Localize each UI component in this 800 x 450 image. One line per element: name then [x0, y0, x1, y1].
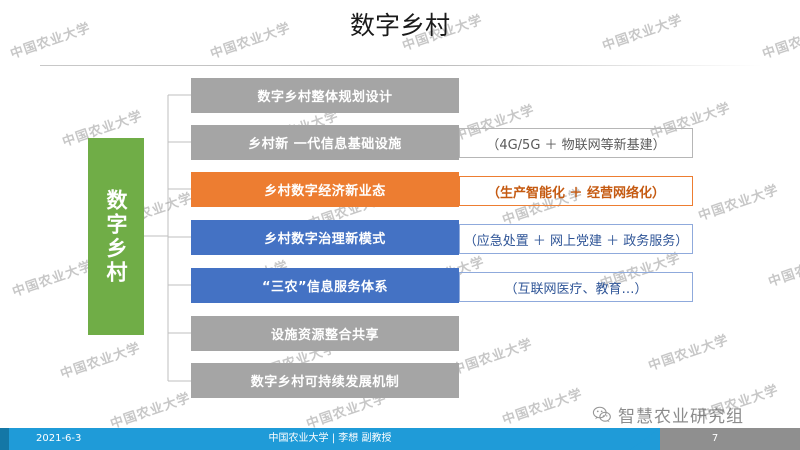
node-label: 乡村新 一代信息基础设施 — [248, 133, 402, 152]
wechat-icon — [592, 405, 612, 425]
slide-canvas: 数字乡村 数字乡村 数字乡村整体规划设计 乡村新 一代信息基础设施 乡村数字经济… — [0, 0, 800, 450]
node-label: 乡村数字经济新业态 — [264, 180, 386, 199]
node-label: 数字乡村整体规划设计 — [257, 86, 392, 105]
annotation-info-service: （互联网医疗、教育…） — [459, 272, 693, 302]
root-node-label: 数字乡村 — [101, 189, 131, 285]
annotation-label: （生产智能化 ＋ 经营网络化） — [487, 182, 665, 201]
node-label: 乡村数字治理新模式 — [264, 228, 386, 247]
node-label: 数字乡村可持续发展机制 — [251, 371, 400, 390]
brand-badge: 智慧农业研究组 — [592, 402, 744, 427]
node-label: “三农”信息服务体系 — [262, 276, 388, 295]
node-digital-economy[interactable]: 乡村数字经济新业态 — [191, 172, 459, 207]
title-divider — [40, 65, 762, 66]
footer-page-number: 7 — [630, 428, 800, 450]
node-sannong-info-service[interactable]: “三农”信息服务体系 — [191, 268, 459, 303]
root-node-digital-village[interactable]: 数字乡村 — [88, 138, 144, 335]
footer-credit: 中国农业大学 | 李想 副教授 — [0, 428, 660, 450]
page-title: 数字乡村 — [0, 6, 800, 42]
node-label: 设施资源整合共享 — [271, 324, 379, 343]
node-sustainable-mechanism[interactable]: 数字乡村可持续发展机制 — [191, 363, 459, 398]
brand-name: 智慧农业研究组 — [618, 402, 744, 427]
annotation-label: （互联网医疗、教育…） — [504, 278, 647, 297]
node-overall-planning[interactable]: 数字乡村整体规划设计 — [191, 78, 459, 113]
node-resource-sharing[interactable]: 设施资源整合共享 — [191, 316, 459, 351]
annotation-label: （4G/5G ＋ 物联网等新基建） — [486, 134, 665, 153]
node-new-gen-infrastructure[interactable]: 乡村新 一代信息基础设施 — [191, 125, 459, 160]
footer-bar: 2021-6-3 中国农业大学 | 李想 副教授 7 — [0, 428, 800, 450]
annotation-infrastructure: （4G/5G ＋ 物联网等新基建） — [459, 128, 693, 158]
annotation-governance: （应急处置 ＋ 网上党建 ＋ 政务服务） — [459, 224, 693, 254]
annotation-label: （应急处置 ＋ 网上党建 ＋ 政务服务） — [464, 230, 689, 249]
node-digital-governance[interactable]: 乡村数字治理新模式 — [191, 220, 459, 255]
annotation-economy: （生产智能化 ＋ 经营网络化） — [459, 176, 693, 206]
